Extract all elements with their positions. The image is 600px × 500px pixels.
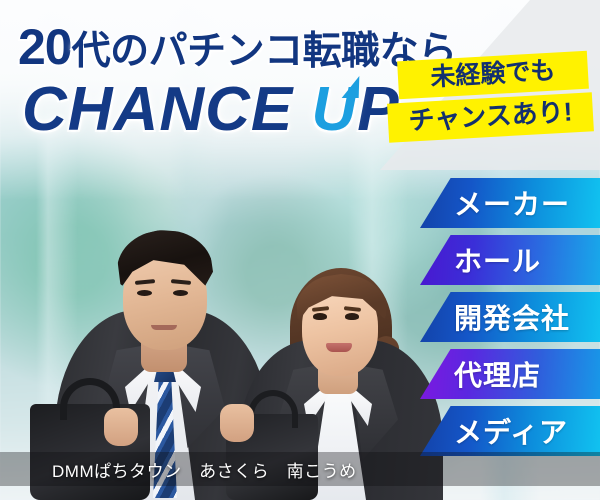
- female-smile: [326, 343, 352, 352]
- male-eye-right: [173, 290, 188, 296]
- hand-left: [104, 408, 138, 446]
- female-eye-right: [345, 313, 359, 320]
- category-label-media: メディア: [454, 411, 568, 451]
- caption-bar: DMMぱちタウン あさくら 南こうめ: [0, 452, 600, 486]
- category-list: メーカー ホール 開発会社 代理店 メディア: [420, 178, 600, 463]
- category-label-maker: メーカー: [454, 183, 570, 223]
- category-label-hall: ホール: [454, 240, 541, 280]
- chance-up-logo: CHANCE UP: [22, 74, 400, 145]
- inexperience-badge: 未経験でも チャンスあり!: [388, 56, 596, 138]
- badge-line-2: チャンスあり!: [387, 93, 594, 144]
- female-eye-left: [313, 313, 327, 320]
- category-item-developer[interactable]: 開発会社: [420, 292, 600, 342]
- headline-middle: 代のパチンコ転職: [72, 30, 380, 73]
- male-mouth: [151, 325, 177, 330]
- male-eye-left: [137, 290, 152, 296]
- hand-right: [220, 404, 254, 442]
- advertisement-banner[interactable]: 20代のパチンコ転職なら CHANCE UP 未経験でも チャンスあり! メーカ…: [0, 0, 600, 500]
- category-label-agency: 代理店: [454, 354, 541, 394]
- logo-u-letter: U: [311, 74, 357, 145]
- category-item-media[interactable]: メディア: [420, 406, 600, 456]
- category-item-hall[interactable]: ホール: [420, 235, 600, 285]
- caption-text: DMMぱちタウン あさくら 南こうめ: [0, 457, 357, 482]
- badge-line-1: 未経験でも: [397, 51, 589, 100]
- category-item-maker[interactable]: メーカー: [420, 178, 600, 228]
- people-photo-group: [0, 130, 440, 500]
- category-item-agency[interactable]: 代理店: [420, 349, 600, 399]
- logo-chance-word: CHANCE: [22, 75, 293, 144]
- headline-number: 20: [18, 19, 72, 75]
- category-label-developer: 開発会社: [454, 297, 570, 337]
